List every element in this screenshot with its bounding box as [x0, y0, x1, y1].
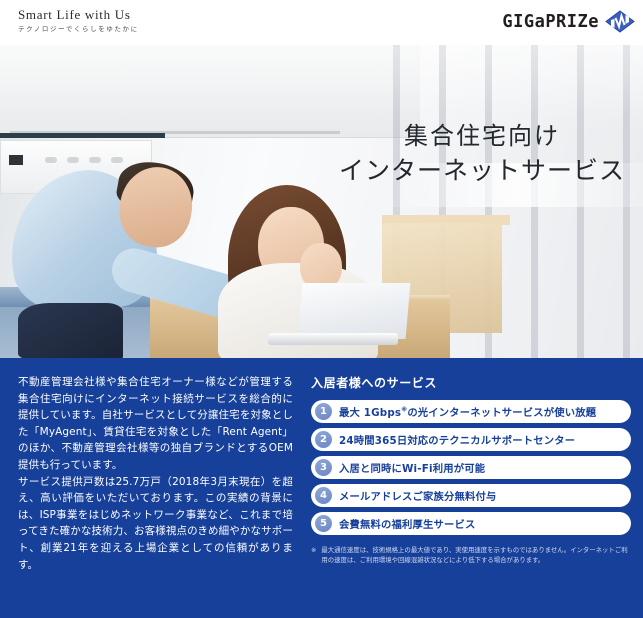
footnote-text: 最大通信速度は、技術規格上の最大値であり、実使用速度を示すものではありません。イ… [321, 545, 631, 565]
service-label: 入居と同時にWi-Fi利用が可能 [339, 460, 485, 475]
services-heading: 入居者様へのサービス [311, 374, 631, 391]
service-number-badge: 5 [315, 515, 332, 532]
list-item[interactable]: 1 最大 1Gbps※の光インターネットサービスが使い放題 [311, 400, 631, 423]
service-number-badge: 1 [315, 403, 332, 420]
description-paragraph-1: 不動産管理会社様や集合住宅オーナー様などが管理する集合住宅向けにインターネット接… [18, 374, 293, 474]
services-list: 1 最大 1Gbps※の光インターネットサービスが使い放題 2 24時間365日… [311, 400, 631, 535]
service-label: 24時間365日対応のテクニカルサポートセンター [339, 432, 575, 447]
description-paragraph-2: サービス提供戸数は25.7万戸（2018年3月末現在）を超え、高い評価をいただい… [18, 474, 293, 574]
giga-prize-logo[interactable]: GIGaPRIZe [502, 10, 635, 33]
services-column: 入居者様へのサービス 1 最大 1Gbps※の光インターネットサービスが使い放題… [311, 374, 631, 565]
list-item[interactable]: 4 メールアドレスご家族分無料付与 [311, 484, 631, 507]
brand-tagline-en: Smart Life with Us [18, 7, 139, 22]
page-root: Smart Life with Us テクノロジーでくらしをゆたかに GIGaP… [0, 0, 643, 618]
footnote: ※ 最大通信速度は、技術規格上の最大値であり、実使用速度を示すものではありません… [311, 545, 631, 565]
service-number-badge: 3 [315, 459, 332, 476]
description-column: 不動産管理会社様や集合住宅オーナー様などが管理する集合住宅向けにインターネット接… [18, 374, 293, 573]
brand-block: Smart Life with Us テクノロジーでくらしをゆたかに [18, 7, 139, 35]
list-item[interactable]: 5 会費無料の福利厚生サービス [311, 512, 631, 535]
list-item[interactable]: 3 入居と同時にWi-Fi利用が可能 [311, 456, 631, 479]
service-number-badge: 4 [315, 487, 332, 504]
service-label: 会費無料の福利厚生サービス [339, 516, 475, 531]
hero-title-line-1: 集合住宅向け [339, 121, 625, 152]
diamond-logo-icon [605, 10, 635, 33]
service-number-badge: 2 [315, 431, 332, 448]
logo-wordmark: GIGaPRIZe [502, 11, 599, 32]
service-label: 最大 1Gbps※の光インターネットサービスが使い放題 [339, 404, 596, 419]
footnote-mark: ※ [311, 545, 316, 565]
site-header: Smart Life with Us テクノロジーでくらしをゆたかに GIGaP… [0, 0, 643, 45]
brand-tagline-jp: テクノロジーでくらしをゆたかに [18, 24, 139, 35]
hero-title-line-2: インターネットサービス [339, 155, 625, 187]
hero-title: 集合住宅向け インターネットサービス [339, 121, 625, 187]
list-item[interactable]: 2 24時間365日対応のテクニカルサポートセンター [311, 428, 631, 451]
description-text: 不動産管理会社様や集合住宅オーナー様などが管理する集合住宅向けにインターネット接… [18, 374, 293, 573]
service-label: メールアドレスご家族分無料付与 [339, 488, 496, 503]
info-panel: 不動産管理会社様や集合住宅オーナー様などが管理する集合住宅向けにインターネット接… [0, 358, 643, 618]
hero-overlay [0, 45, 643, 358]
hero-banner: 集合住宅向け インターネットサービス [0, 45, 643, 358]
